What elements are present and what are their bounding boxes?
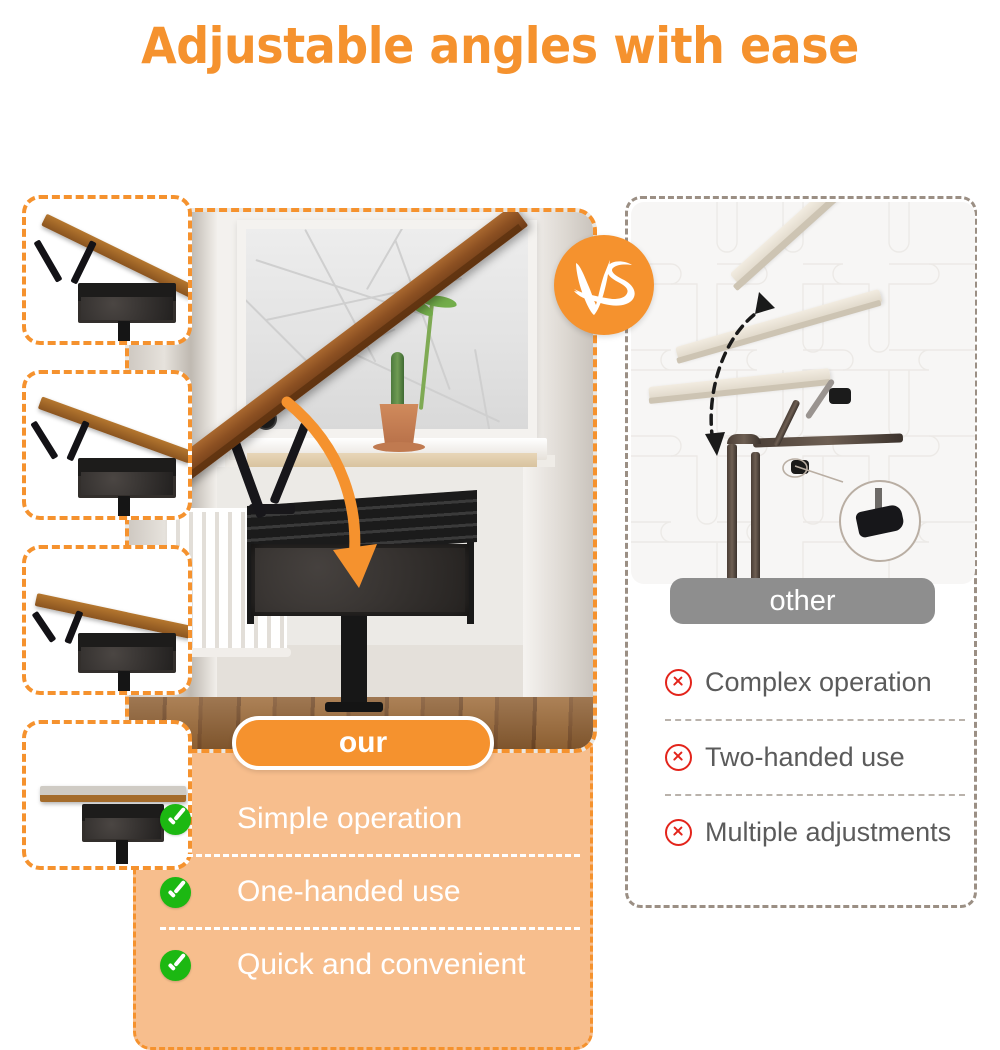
our-feature-label: One-handed use: [237, 877, 461, 907]
other-feature-row: Two-handed use: [665, 719, 965, 794]
other-feature-row: Multiple adjustments: [665, 794, 965, 869]
vs-badge: [554, 235, 654, 335]
other-feature-label: Multiple adjustments: [705, 817, 951, 848]
other-feature-list: Complex operation Two-handed use Multipl…: [665, 646, 965, 869]
frame-curve: [727, 434, 761, 444]
our-feature-label: Quick and convenient: [237, 950, 526, 980]
our-feature-label: Simple operation: [237, 804, 462, 834]
infographic-root: Adjustable angles with ease: [0, 0, 1000, 1000]
vs-icon: [554, 235, 654, 335]
x-circle-icon: [665, 819, 692, 846]
our-section: our Simple operation One-handed use Quic…: [0, 100, 620, 970]
our-feature-row: One-handed use: [160, 854, 580, 927]
check-circle-icon: [160, 877, 191, 908]
desk-base: [325, 702, 383, 712]
photo-scene: [129, 212, 593, 749]
knob-handle: [855, 504, 905, 539]
our-feature-list: Simple operation One-handed use Quick an…: [160, 784, 580, 1000]
knob-detail-magnifier: [839, 480, 921, 562]
check-circle-icon: [160, 804, 191, 835]
our-feature-row: Quick and convenient: [160, 927, 580, 1000]
check-circle-icon: [160, 950, 191, 981]
other-feature-row: Complex operation: [665, 646, 965, 719]
angle-thumbnail-3[interactable]: [22, 545, 192, 695]
other-feature-label: Two-handed use: [705, 742, 905, 773]
angle-thumbnail-1[interactable]: [22, 195, 192, 345]
tilt-direction-arrow-icon: [269, 392, 509, 632]
magnifier-connector: [781, 456, 851, 496]
other-badge: other: [670, 578, 935, 624]
frame-leg-right: [751, 452, 760, 584]
x-circle-icon: [665, 669, 692, 696]
other-feature-label: Complex operation: [705, 667, 932, 698]
angle-thumbnail-2[interactable]: [22, 370, 192, 520]
our-badge: our: [232, 716, 494, 770]
competitor-illustration: [631, 202, 975, 584]
our-feature-row: Simple operation: [160, 784, 580, 854]
main-product-photo: [125, 208, 597, 753]
x-circle-icon: [665, 744, 692, 771]
page-title: Adjustable angles with ease: [40, 17, 960, 75]
frame-leg-left: [727, 444, 737, 584]
pivot-knob: [829, 388, 851, 404]
